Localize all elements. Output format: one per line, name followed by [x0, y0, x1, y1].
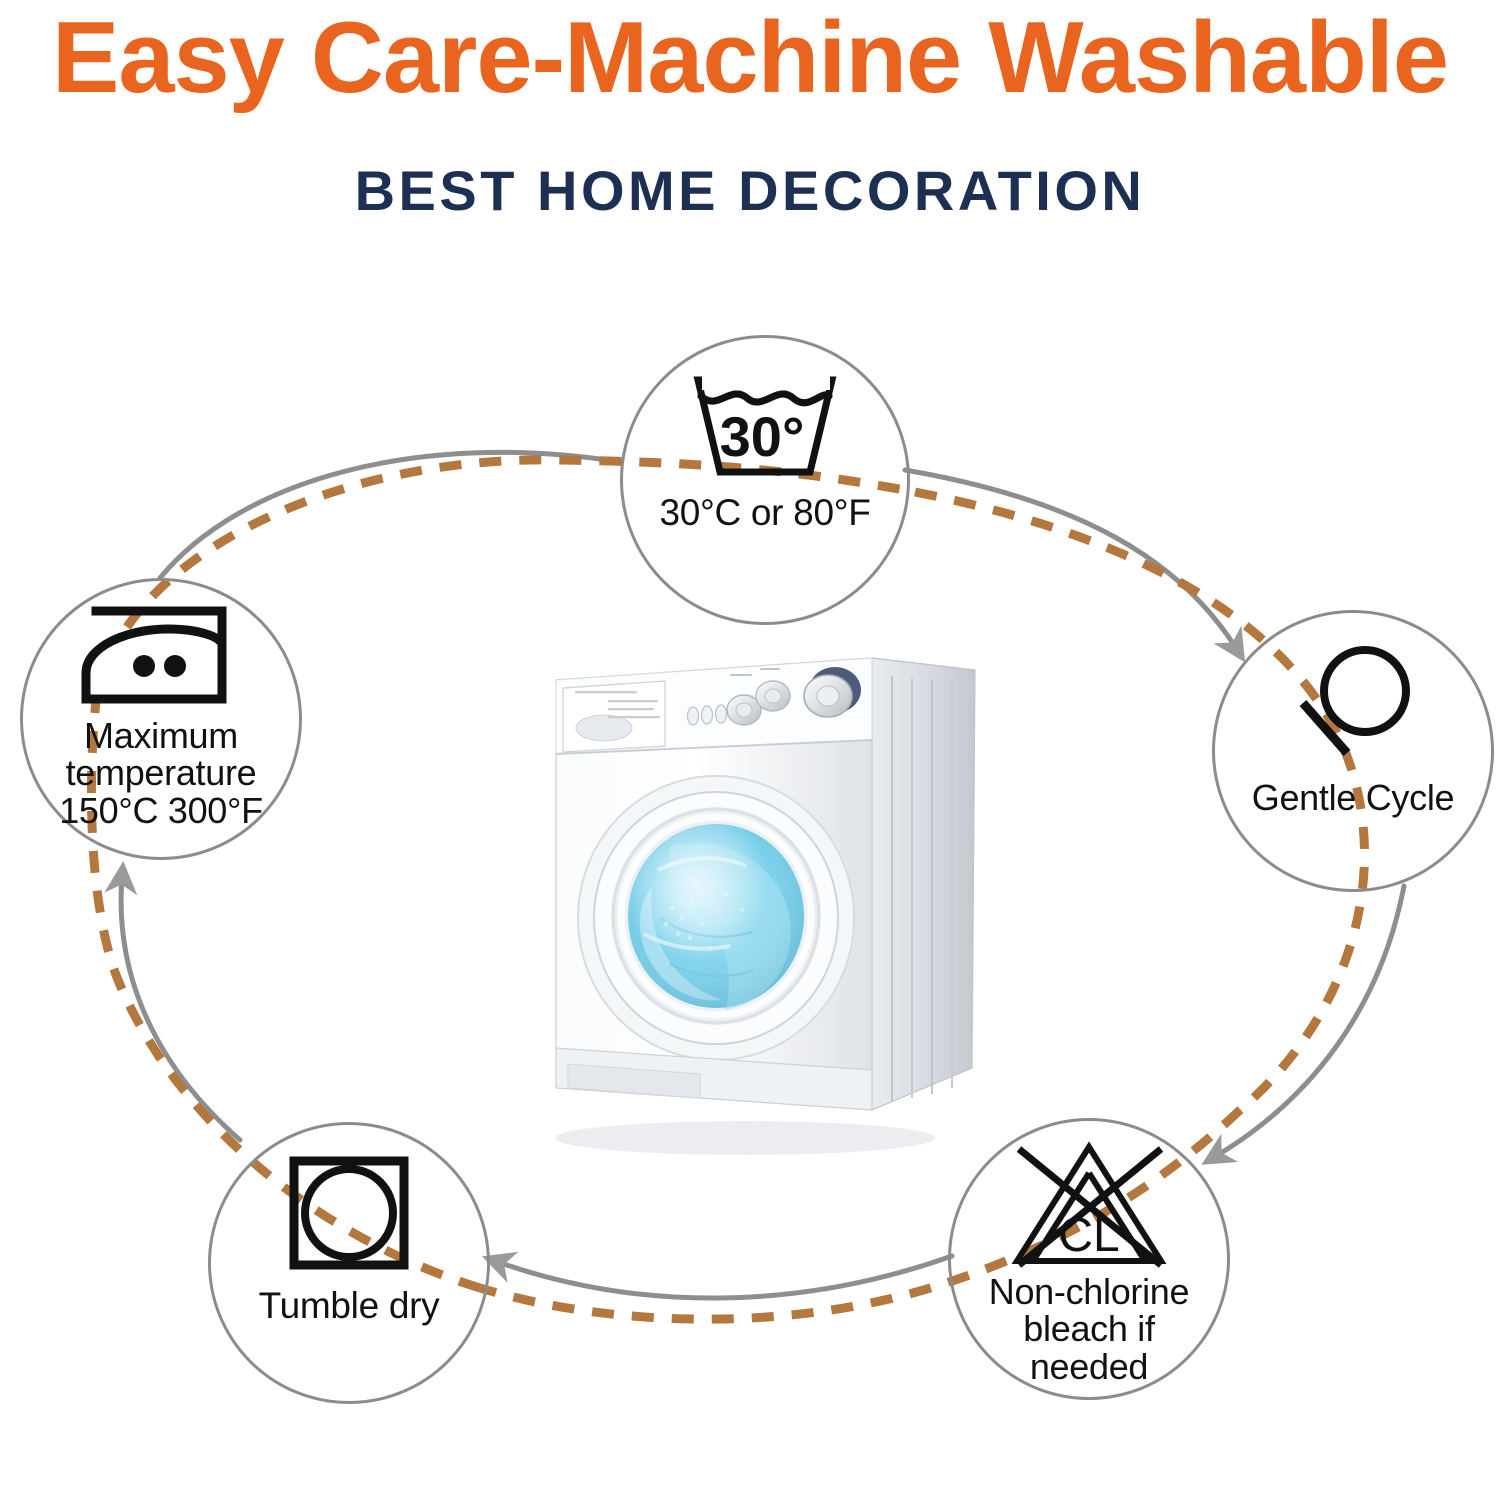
badge-non-chlorine-bleach[interactable]: CL Non-chlorine bleach if needed — [948, 1118, 1230, 1400]
badge-tumble-label: Tumble dry — [259, 1287, 440, 1325]
badge-gentle-label: Gentle Cycle — [1252, 779, 1455, 816]
badge-wash-30c[interactable]: 30° 30°C or 80°F — [620, 335, 910, 625]
badge-gentle-cycle[interactable]: Gentle Cycle — [1212, 610, 1494, 892]
badge-bleach-label: Non-chlorine bleach if needed — [989, 1273, 1190, 1385]
iron-two-dots-icon — [72, 603, 250, 711]
page-title: Easy Care-Machine Washable — [0, 4, 1500, 113]
page-subtitle: BEST HOME DECORATION — [0, 158, 1500, 223]
connector-gentle-to-bleach — [1216, 886, 1404, 1156]
connector-bleach-to-tumble — [498, 1256, 952, 1298]
gentle-cycle-icon — [1289, 643, 1417, 765]
badge-tumble-dry[interactable]: Tumble dry — [208, 1122, 490, 1404]
svg-text:CL: CL — [1058, 1209, 1119, 1262]
svg-text:30°: 30° — [720, 405, 805, 468]
badge-iron-max-temperature[interactable]: Maximum temperature 150°C 300°F — [20, 578, 302, 860]
wash-basin-30-icon: 30° — [690, 368, 840, 486]
tumble-dry-icon — [286, 1153, 412, 1273]
non-chlorine-bleach-icon: CL — [1005, 1139, 1173, 1271]
front-load-washing-machine — [520, 618, 990, 1163]
care-instructions-infographic: Easy Care-Machine Washable BEST HOME DEC… — [0, 0, 1500, 1500]
badge-wash-label: 30°C or 80°F — [659, 494, 870, 532]
connector-iron-to-wash — [160, 452, 620, 578]
connector-tumble-to-iron — [121, 878, 240, 1140]
badge-iron-label: Maximum temperature 150°C 300°F — [59, 717, 263, 829]
